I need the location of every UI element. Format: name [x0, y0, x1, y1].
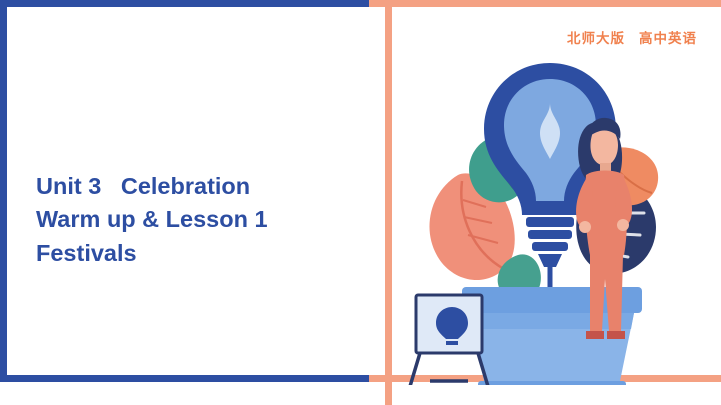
decor-bar-left-blue	[0, 0, 7, 382]
decor-bar-top-blue	[0, 0, 369, 7]
textbook-edition-label: 北师大版高中英语	[567, 27, 697, 47]
title-line-3: Festivals	[36, 237, 366, 270]
decor-bar-bottom-blue	[0, 375, 369, 382]
decor-bar-vertical-orange	[385, 0, 392, 405]
slide-root: 北师大版高中英语 Unit 3 Celebration Warm up & Le…	[0, 0, 721, 405]
title-line-2: Warm up & Lesson 1	[36, 203, 366, 236]
lightbulb-plant-illustration	[400, 55, 700, 385]
title-line-1: Unit 3 Celebration	[36, 170, 366, 203]
textbook-publisher-label: 北师大版	[567, 31, 625, 47]
easel-board-icon	[408, 295, 490, 385]
decor-bar-top-orange	[369, 0, 721, 7]
page-title: Unit 3 Celebration Warm up & Lesson 1 Fe…	[36, 170, 366, 270]
textbook-subject-label: 高中英语	[639, 31, 697, 47]
